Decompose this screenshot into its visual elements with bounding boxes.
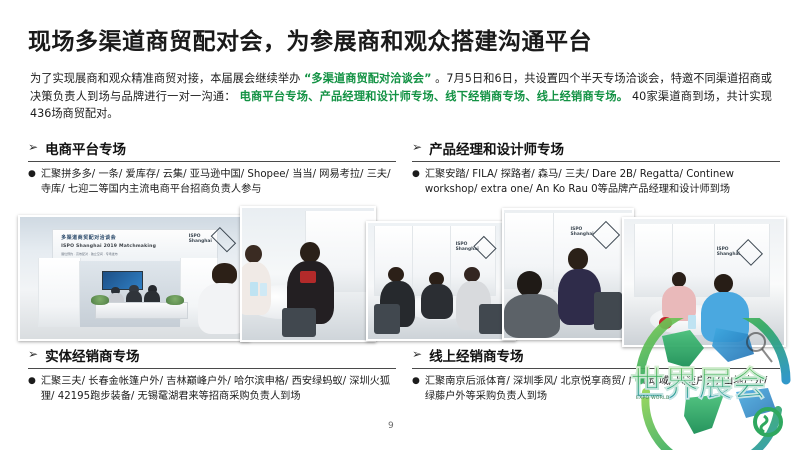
water-bottle bbox=[260, 283, 267, 296]
person-head bbox=[245, 245, 262, 263]
lead-highlight-2: 电商平台专场、产品经理和设计师专场、线下经销商专场、线上经销商专场。 bbox=[240, 90, 629, 103]
ispo-line-2: Shanghai bbox=[189, 239, 212, 244]
arrow-right-icon: ➢ bbox=[28, 348, 38, 360]
person-body bbox=[701, 292, 749, 342]
section-header: ➢ 实体经销商专场 bbox=[28, 345, 396, 368]
arrow-right-icon: ➢ bbox=[412, 141, 422, 153]
section-title: 电商平台专场 bbox=[45, 138, 126, 158]
water-bottle bbox=[250, 282, 258, 297]
section-bullet: ● 汇聚三夫/ 长春金帐篷户外/ 吉林巅峰户外/ 哈尔滨申格/ 西安绿蚂蚁/ 深… bbox=[28, 374, 396, 404]
bullet-dot-icon: ● bbox=[28, 374, 36, 404]
section-bullet: ● 汇聚拼多多/ 一条/ 爱库存/ 云集/ 亚马逊中国/ Shopee/ 当当/… bbox=[28, 167, 396, 197]
ispo-logo-text: ISPO Shanghai bbox=[189, 234, 212, 244]
banner-subtitle: 展位预约 · 高效配对 · 独立空间 · 专场发布 bbox=[61, 252, 118, 256]
section-product-manager: ➢ 产品经理和设计师专场 ● 汇聚安踏/ FILA/ 探路者/ 森马/ 三夫/ … bbox=[412, 138, 780, 197]
bullet-text: 汇聚拼多多/ 一条/ 爱库存/ 云集/ 亚马逊中国/ Shopee/ 当当/ 网… bbox=[41, 167, 396, 197]
slide-canvas: 现场多渠道商贸配对会，为参展商和观众搭建沟通平台 为了实现展商和观众精准商贸对接… bbox=[0, 0, 800, 450]
ispo-line-2: Shanghai bbox=[717, 252, 740, 257]
section-divider bbox=[28, 161, 396, 162]
photo-booth-overview: 多渠道商贸配对洽谈会 ISPO Shanghai 2019 Matchmakin… bbox=[18, 215, 250, 341]
section-offline-dealer: ➢ 实体经销商专场 ● 汇聚三夫/ 长春金帐篷户外/ 吉林巅峰户外/ 哈尔滨申格… bbox=[28, 345, 396, 404]
chair bbox=[374, 304, 400, 334]
photo-meeting-1 bbox=[240, 206, 376, 342]
bullet-dot-icon: ● bbox=[28, 167, 36, 197]
photo-meeting-4: ISPO Shanghai bbox=[622, 217, 786, 347]
section-title: 产品经理和设计师专场 bbox=[429, 138, 564, 158]
page-number: 9 bbox=[388, 421, 394, 431]
arrow-right-icon: ➢ bbox=[412, 348, 422, 360]
section-divider bbox=[412, 161, 780, 162]
shirt-graphic bbox=[300, 271, 316, 283]
bullet-text: 汇聚安踏/ FILA/ 探路者/ 森马/ 三夫/ Dare 2B/ Regatt… bbox=[425, 167, 780, 197]
person-body bbox=[504, 294, 560, 338]
booth-wall bbox=[38, 258, 81, 326]
section-online-dealer: ➢ 线上经销商专场 ● 汇聚南京后派体育/ 深圳季风/ 北京悦享商贸/ 广州动域… bbox=[412, 345, 780, 404]
bullet-text: 汇聚三夫/ 长春金帐篷户外/ 吉林巅峰户外/ 哈尔滨申格/ 西安绿蚂蚁/ 深圳火… bbox=[41, 374, 396, 404]
person-head bbox=[714, 274, 733, 293]
section-title: 线上经销商专场 bbox=[429, 345, 524, 365]
person-body bbox=[421, 284, 453, 319]
section-title: 实体经销商专场 bbox=[45, 345, 140, 365]
lead-part-1: 为了实现展商和观众精准商贸对接，本届展会继续举办 bbox=[30, 72, 300, 85]
lead-highlight-1: “多渠道商贸配对洽谈会” bbox=[304, 72, 431, 85]
ispo-logo-text: ISPO Shanghai bbox=[571, 227, 594, 237]
chair bbox=[594, 292, 622, 330]
water-bottle bbox=[688, 315, 696, 329]
chair bbox=[282, 308, 316, 337]
photo-meeting-3: ISPO Shanghai bbox=[502, 208, 634, 340]
section-bullet: ● 汇聚南京后派体育/ 深圳季风/ 北京悦享商贸/ 广州动域/ 风速户外/ 山地… bbox=[412, 374, 780, 404]
reception-desk bbox=[95, 302, 188, 319]
banner-title-en: ISPO Shanghai 2019 Matchmaking bbox=[61, 244, 156, 249]
helmet-prop bbox=[659, 317, 672, 328]
lead-paragraph: 为了实现展商和观众精准商贸对接，本届展会继续举办 “多渠道商贸配对洽谈会” 。7… bbox=[30, 70, 772, 123]
section-header: ➢ 电商平台专场 bbox=[28, 138, 396, 161]
section-ec-platform: ➢ 电商平台专场 ● 汇聚拼多多/ 一条/ 爱库存/ 云集/ 亚马逊中国/ Sh… bbox=[28, 138, 396, 197]
banner-title-zh: 多渠道商贸配对洽谈会 bbox=[61, 234, 116, 241]
photo-meeting-2: ISPO Shanghai bbox=[366, 221, 516, 341]
arrow-right-icon: ➢ bbox=[28, 141, 38, 153]
photo-strip: 多渠道商贸配对洽谈会 ISPO Shanghai 2019 Matchmakin… bbox=[18, 203, 782, 343]
booth-wall bbox=[634, 224, 674, 297]
section-divider bbox=[412, 368, 780, 369]
section-header: ➢ 产品经理和设计师专场 bbox=[412, 138, 780, 161]
section-header: ➢ 线上经销商专场 bbox=[412, 345, 780, 368]
bullet-dot-icon: ● bbox=[412, 167, 420, 197]
flower-arrangement bbox=[91, 295, 109, 305]
section-bullet: ● 汇聚安踏/ FILA/ 探路者/ 森马/ 三夫/ Dare 2B/ Rega… bbox=[412, 167, 780, 197]
flower-arrangement bbox=[166, 295, 184, 305]
bullet-dot-icon: ● bbox=[412, 374, 420, 404]
section-divider bbox=[28, 368, 396, 369]
ispo-line-2: Shanghai bbox=[571, 232, 594, 237]
bullet-text: 汇聚南京后派体育/ 深圳季风/ 北京悦享商贸/ 广州动域/ 风速户外/ 山地户外… bbox=[425, 374, 780, 404]
page-title: 现场多渠道商贸配对会，为参展商和观众搭建沟通平台 bbox=[28, 22, 592, 56]
